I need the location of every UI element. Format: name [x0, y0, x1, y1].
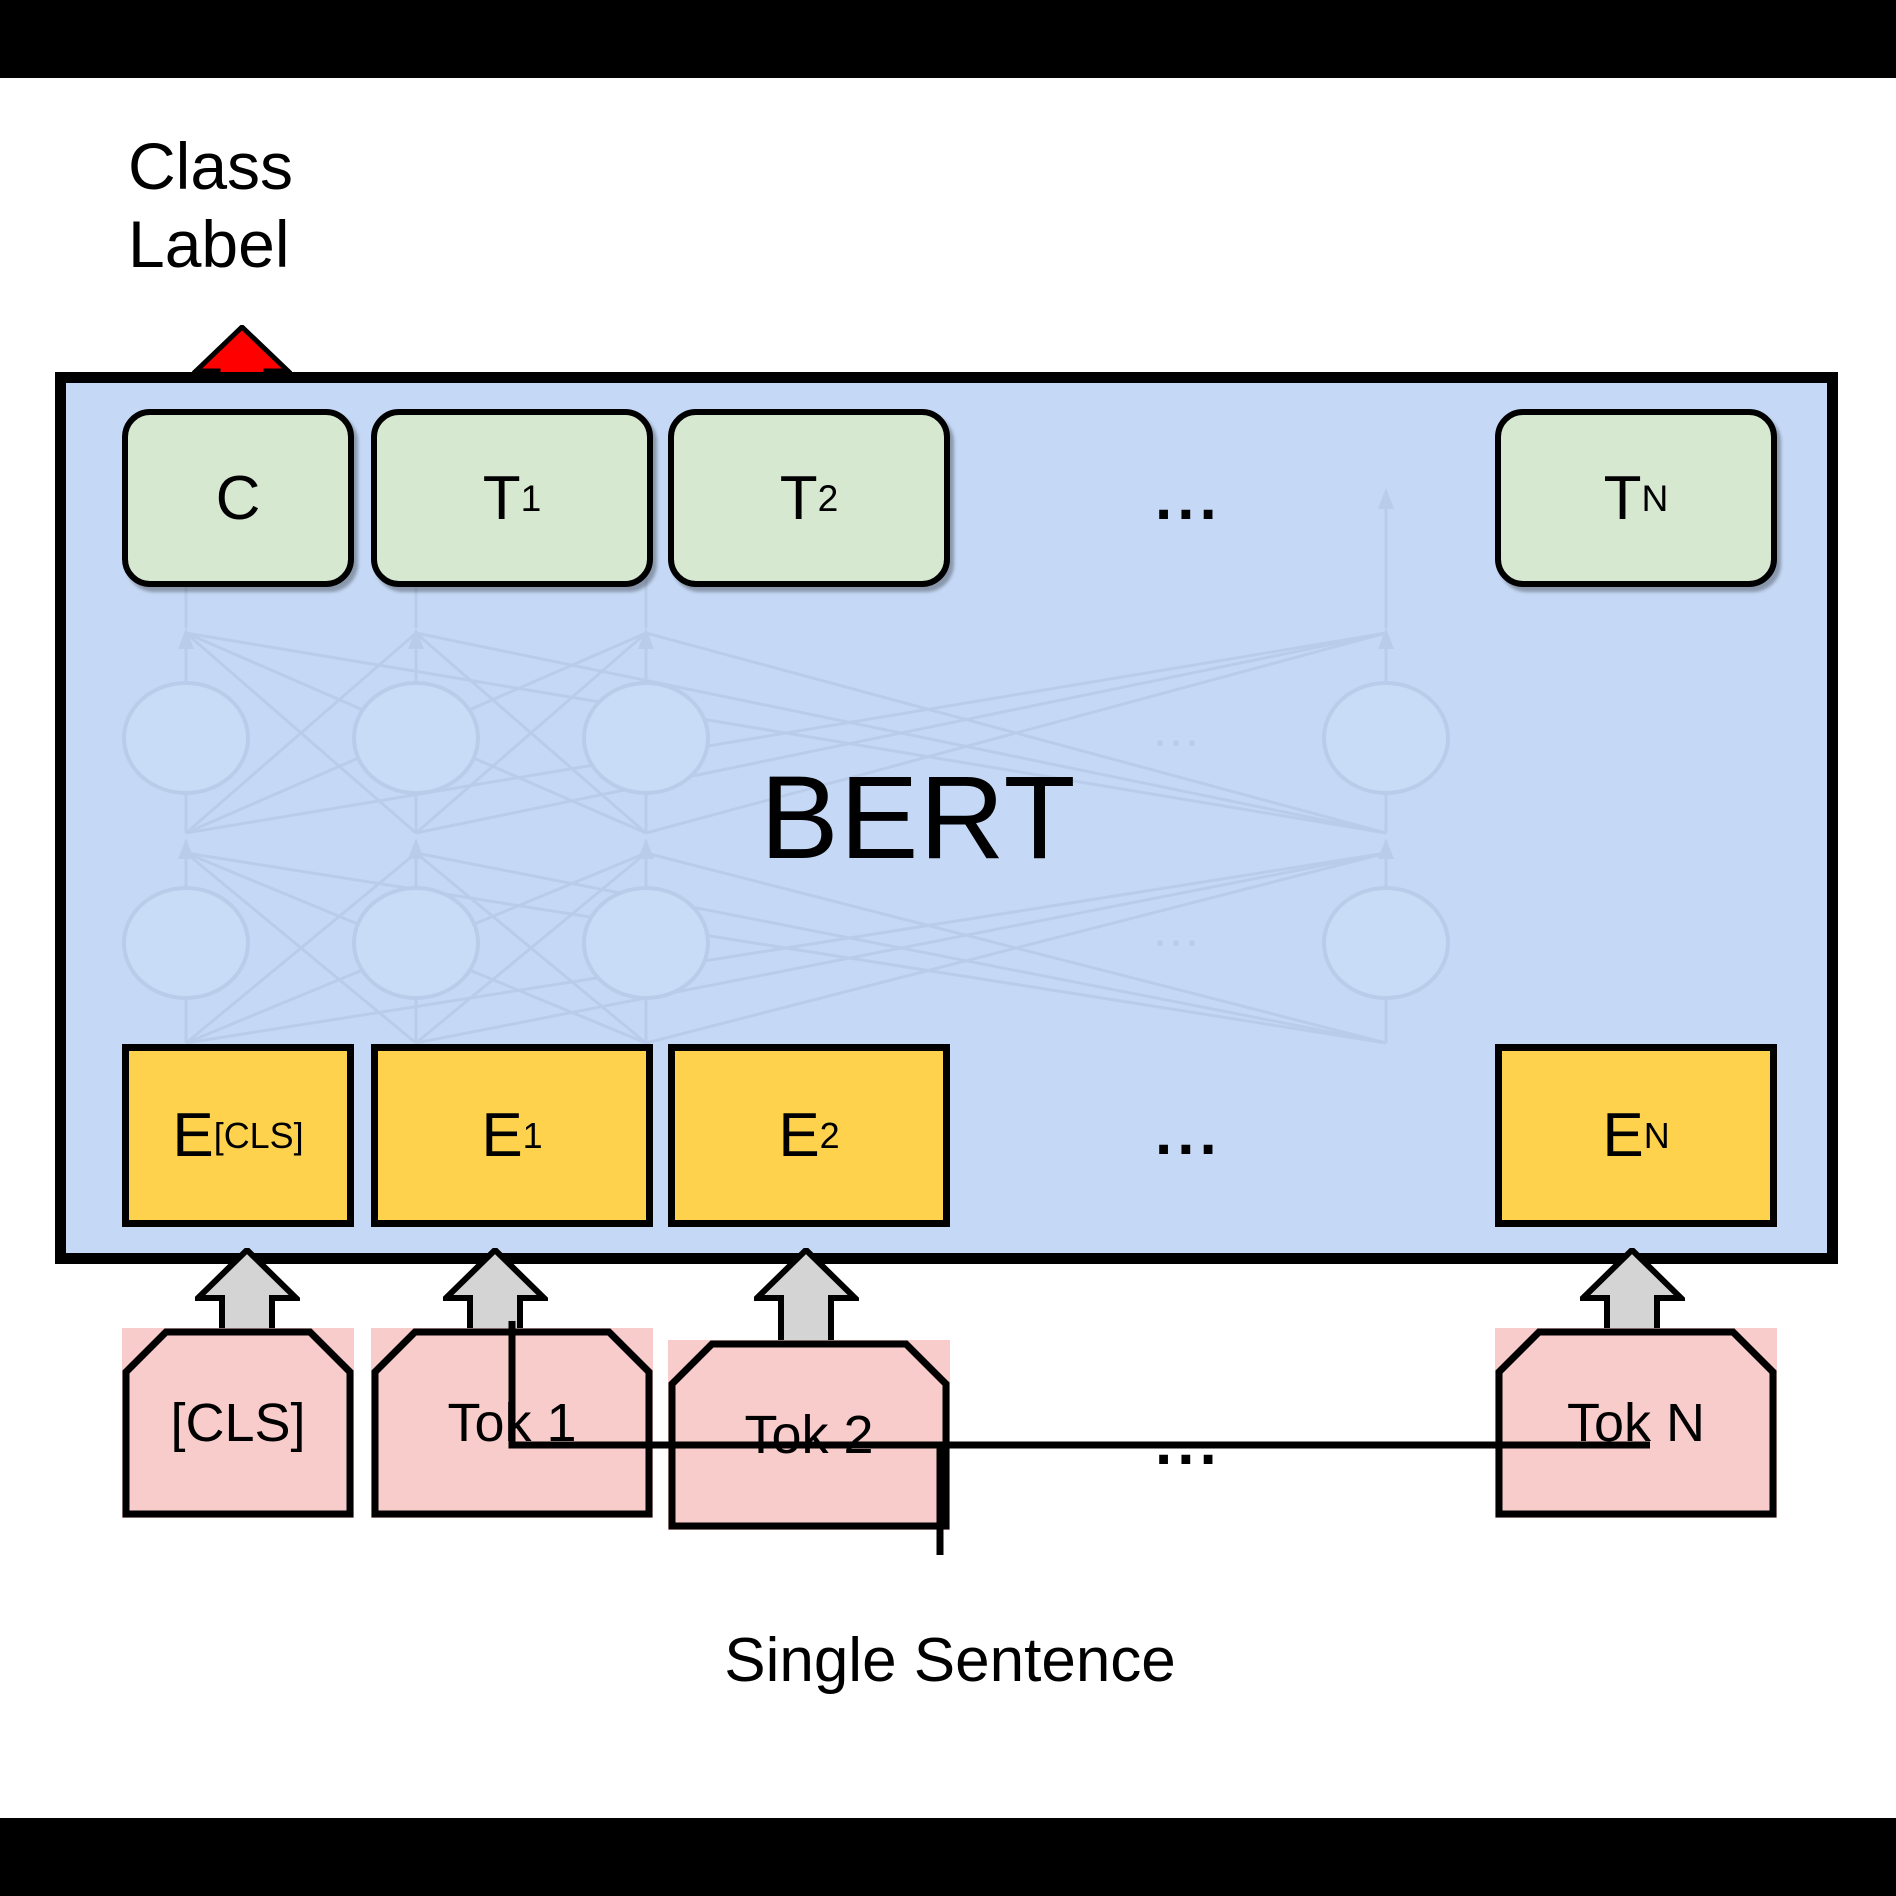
embedding-label-e1: E [481, 1100, 522, 1171]
embedding-row-ellipsis: ... [1155, 1098, 1222, 1169]
output-label-tn: T [1604, 463, 1642, 534]
diagram-canvas: Class Label [0, 0, 1896, 1896]
token-box-cls[interactable]: [CLS] [122, 1328, 354, 1518]
embedding-sub-e1: 1 [523, 1115, 543, 1157]
embedding-label-e2: E [778, 1100, 819, 1171]
embedding-label-en: E [1602, 1100, 1643, 1171]
output-label-c: C [216, 463, 261, 534]
token-label-tok1: Tok 1 [447, 1392, 576, 1454]
embedding-sub-cls: [CLS] [214, 1115, 304, 1157]
output-sub-t1: 1 [521, 477, 542, 520]
token-label-tok2: Tok 2 [744, 1404, 873, 1466]
embedding-box-e1[interactable]: E1 [371, 1044, 653, 1227]
embedding-box-en[interactable]: EN [1495, 1044, 1777, 1227]
output-box-c[interactable]: C [122, 409, 354, 587]
output-sub-t2: 2 [818, 477, 839, 520]
output-label-t1: T [483, 463, 521, 534]
embedding-box-cls[interactable]: E[CLS] [122, 1044, 354, 1227]
output-box-t2[interactable]: T2 [668, 409, 950, 587]
embedding-box-e2[interactable]: E2 [668, 1044, 950, 1227]
network-ellipsis-upper: ... [1155, 713, 1203, 755]
embedding-label-cls: E [172, 1100, 213, 1171]
embedding-sub-en: N [1644, 1115, 1670, 1157]
class-label-text: Class Label [128, 128, 468, 284]
output-row-ellipsis: ... [1155, 463, 1222, 534]
token-label-cls: [CLS] [170, 1392, 305, 1454]
embedding-sub-e2: 2 [820, 1115, 840, 1157]
token-label-tokn: Tok N [1567, 1392, 1705, 1454]
output-label-t2: T [780, 463, 818, 534]
output-sub-tn: N [1642, 477, 1669, 520]
network-ellipsis-lower: ... [1155, 913, 1203, 955]
single-sentence-label: Single Sentence [560, 1625, 1340, 1696]
single-sentence-bracket [420, 1255, 1720, 1555]
bert-title: BERT [760, 750, 1077, 886]
output-box-tn[interactable]: TN [1495, 409, 1777, 587]
output-box-t1[interactable]: T1 [371, 409, 653, 587]
